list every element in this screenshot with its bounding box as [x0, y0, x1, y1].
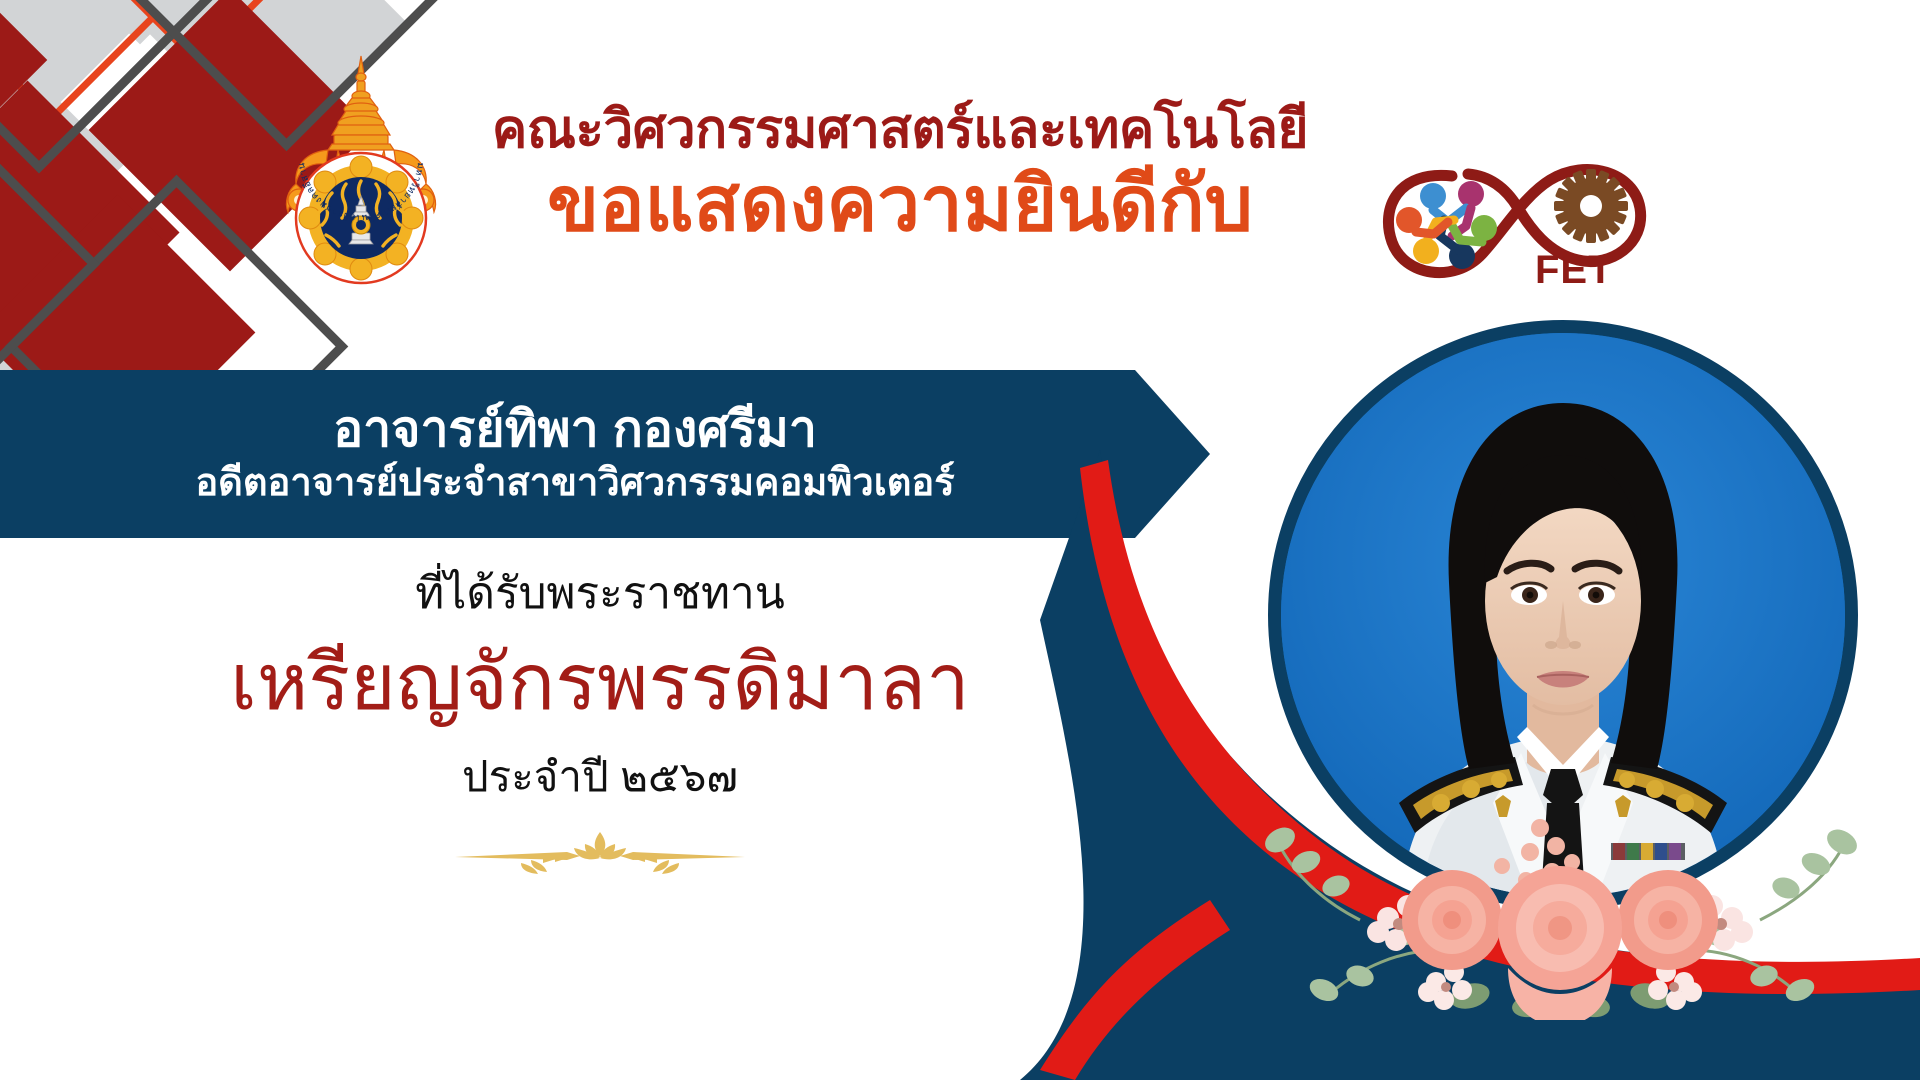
congratulation-banner: มหาวิทยาลัยเทคโนโลยีราชมงคลอีสาน คณะวิศว…: [0, 0, 1920, 1080]
award-block: ที่ได้รับพระราชทาน เหรียญจักรพรรดิมาลา ป…: [60, 565, 1140, 883]
portrait-photo: [1268, 320, 1858, 910]
gold-flourish-divider-icon: [435, 822, 765, 878]
faculty-name: คณะวิศวกรรมศาสตร์และเทคโนโลยี: [430, 100, 1370, 159]
page-title: คณะวิศวกรรมศาสตร์และเทคโนโลยี ขอแสดงความ…: [430, 100, 1370, 249]
congratulation-line: ขอแสดงความยินดีกับ: [430, 161, 1370, 248]
person-name: อาจารย์ทิพา กองศรีมา: [333, 402, 877, 457]
rmuti-seal-icon: มหาวิทยาลัยเทคโนโลยีราชมงคลอีสาน: [266, 50, 456, 295]
gear-icon: [1554, 169, 1628, 243]
name-banner: อาจารย์ทิพา กองศรีมา อดีตอาจารย์ประจำสาข…: [0, 370, 1210, 538]
award-year: ประจำปี ๒๕๖๗: [60, 750, 1140, 805]
award-prefix: ที่ได้รับพระราชทาน: [60, 565, 1140, 622]
fet-logo-label: FET: [1535, 248, 1614, 293]
person-role: อดีตอาจารย์ประจำสาขาวิศวกรรมคอมพิวเตอร์: [195, 461, 1014, 507]
award-medal-name: เหรียญจักรพรรดิมาลา: [60, 634, 1140, 732]
